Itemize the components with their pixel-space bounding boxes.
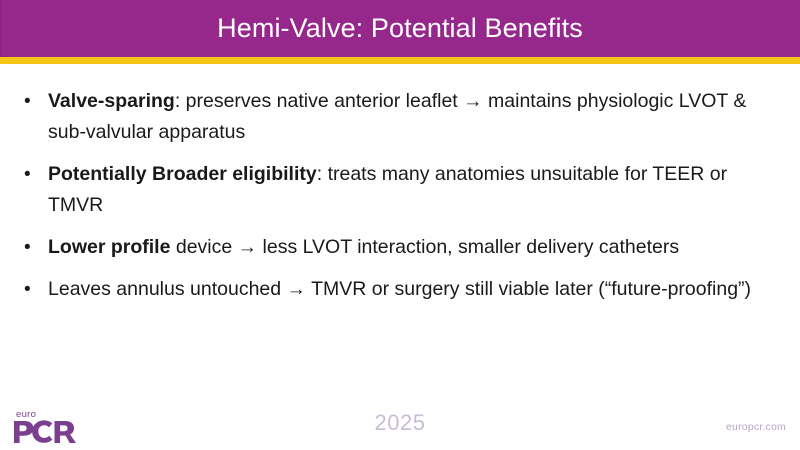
title-band: Hemi-Valve: Potential Benefits — [0, 0, 800, 57]
list-item: • Valve-sparing: preserves native anteri… — [18, 86, 774, 148]
list-item-lead: Potentially Broader eligibility — [48, 163, 317, 185]
slide: Hemi-Valve: Potential Benefits • Valve-s… — [0, 0, 800, 450]
slide-footer: euro 2025 europcr.com — [0, 394, 800, 450]
list-item-lead: Valve-sparing — [48, 90, 175, 112]
list-item: • Potentially Broader eligibility: treat… — [18, 159, 774, 221]
website-label: europcr.com — [726, 421, 786, 433]
bullet-list: • Valve-sparing: preserves native anteri… — [0, 86, 800, 316]
accent-rule-divider — [0, 57, 800, 64]
list-item-text: Potentially Broader eligibility: treats … — [48, 159, 760, 221]
bullet-marker-icon: • — [18, 159, 48, 190]
list-item: • Leaves annulus untouched → TMVR or sur… — [18, 274, 774, 305]
year-label: 2025 — [0, 410, 800, 436]
list-item-text: Leaves annulus untouched → TMVR or surge… — [48, 274, 760, 305]
bullet-marker-icon: • — [18, 86, 48, 117]
list-item: • Lower profile device → less LVOT inter… — [18, 232, 774, 263]
list-item-lead: Lower profile — [48, 236, 170, 258]
bullet-marker-icon: • — [18, 274, 48, 305]
list-item-text: Lower profile device → less LVOT interac… — [48, 232, 760, 263]
list-item-rest: device → less LVOT interaction, smaller … — [170, 236, 679, 258]
list-item-text: Valve-sparing: preserves native anterior… — [48, 86, 760, 148]
bullet-marker-icon: • — [18, 232, 48, 263]
page-title: Hemi-Valve: Potential Benefits — [217, 15, 583, 42]
list-item-rest: Leaves annulus untouched → TMVR or surge… — [48, 278, 751, 300]
